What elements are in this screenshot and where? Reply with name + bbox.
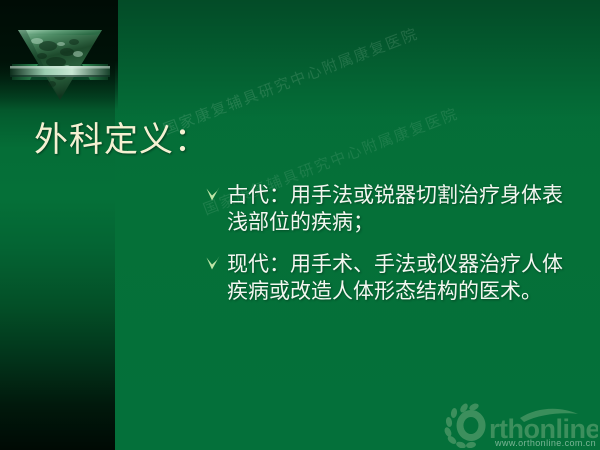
- list-item: 现代：用手术、手法或仪器治疗人体疾病或改造人体形态结构的医术。: [205, 251, 575, 306]
- presentation-slide: 国家康复辅具研究中心附属康复医院 国家康复辅具研究中心附属康复医院: [0, 0, 600, 450]
- page-title: 外科定义：: [34, 121, 209, 159]
- triangle-emblem-icon: [4, 18, 116, 104]
- checkmark-bullet-icon: [205, 253, 221, 273]
- checkmark-bullet-icon: [205, 184, 221, 204]
- bullet-list: 古代：用手法或锐器切割治疗身体表浅部位的疾病； 现代：用手术、手法或仪器治疗人体…: [205, 182, 575, 319]
- list-item-text: 现代：用手术、手法或仪器治疗人体疾病或改造人体形态结构的医术。: [227, 252, 563, 303]
- orthonline-url: www.orthonline.com.cn: [495, 438, 596, 448]
- list-item: 古代：用手法或锐器切割治疗身体表浅部位的疾病；: [205, 182, 575, 237]
- list-item-text: 古代：用手法或锐器切割治疗身体表浅部位的疾病；: [227, 183, 563, 234]
